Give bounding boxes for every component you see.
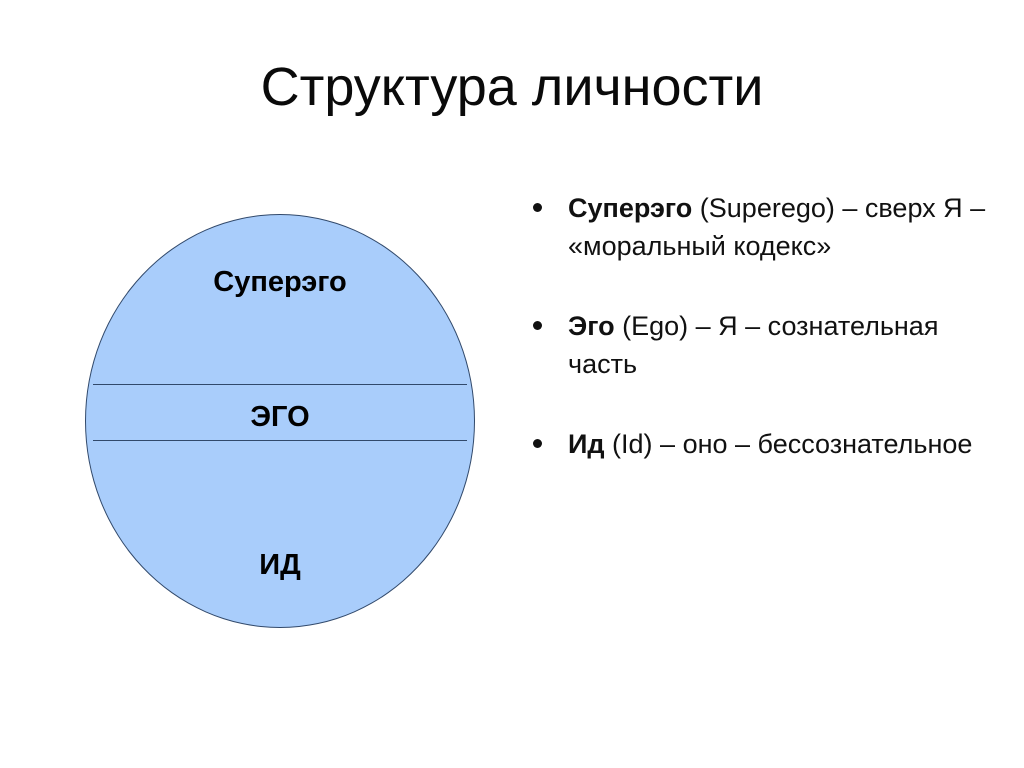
list-item-text: Эго (Ego) – Я – сознательная часть xyxy=(568,307,994,383)
zone-label-ego: ЭГО xyxy=(85,400,475,434)
divider-superego-ego xyxy=(93,384,467,385)
personality-structure-diagram: Суперэго ЭГО ИД xyxy=(85,214,475,628)
definition-list: Суперэго (Superego) – сверх Я – «моральн… xyxy=(524,189,994,463)
term-ego: Эго xyxy=(568,311,615,341)
term-superego: Суперэго xyxy=(568,193,692,223)
list-item: Суперэго (Superego) – сверх Я – «моральн… xyxy=(524,189,994,265)
definition-id: (Id) – оно – бессознательное xyxy=(605,429,973,459)
list-item: Ид (Id) – оно – бессознательное xyxy=(524,425,994,463)
slide-canvas: Структура личности Суперэго ЭГО ИД Супер… xyxy=(0,0,1024,768)
definition-ego: (Ego) – Я – сознательная часть xyxy=(568,311,938,379)
page-title: Структура личности xyxy=(0,56,1024,118)
term-id: Ид xyxy=(568,429,605,459)
list-item-text: Суперэго (Superego) – сверх Я – «моральн… xyxy=(568,189,994,265)
zone-label-superego: Суперэго xyxy=(85,265,475,299)
bullet-dot-icon xyxy=(533,439,542,448)
divider-ego-id xyxy=(93,440,467,441)
list-item-text: Ид (Id) – оно – бессознательное xyxy=(568,425,994,463)
list-item: Эго (Ego) – Я – сознательная часть xyxy=(524,307,994,383)
bullet-dot-icon xyxy=(533,203,542,212)
bullet-dot-icon xyxy=(533,321,542,330)
zone-label-id: ИД xyxy=(85,548,475,582)
